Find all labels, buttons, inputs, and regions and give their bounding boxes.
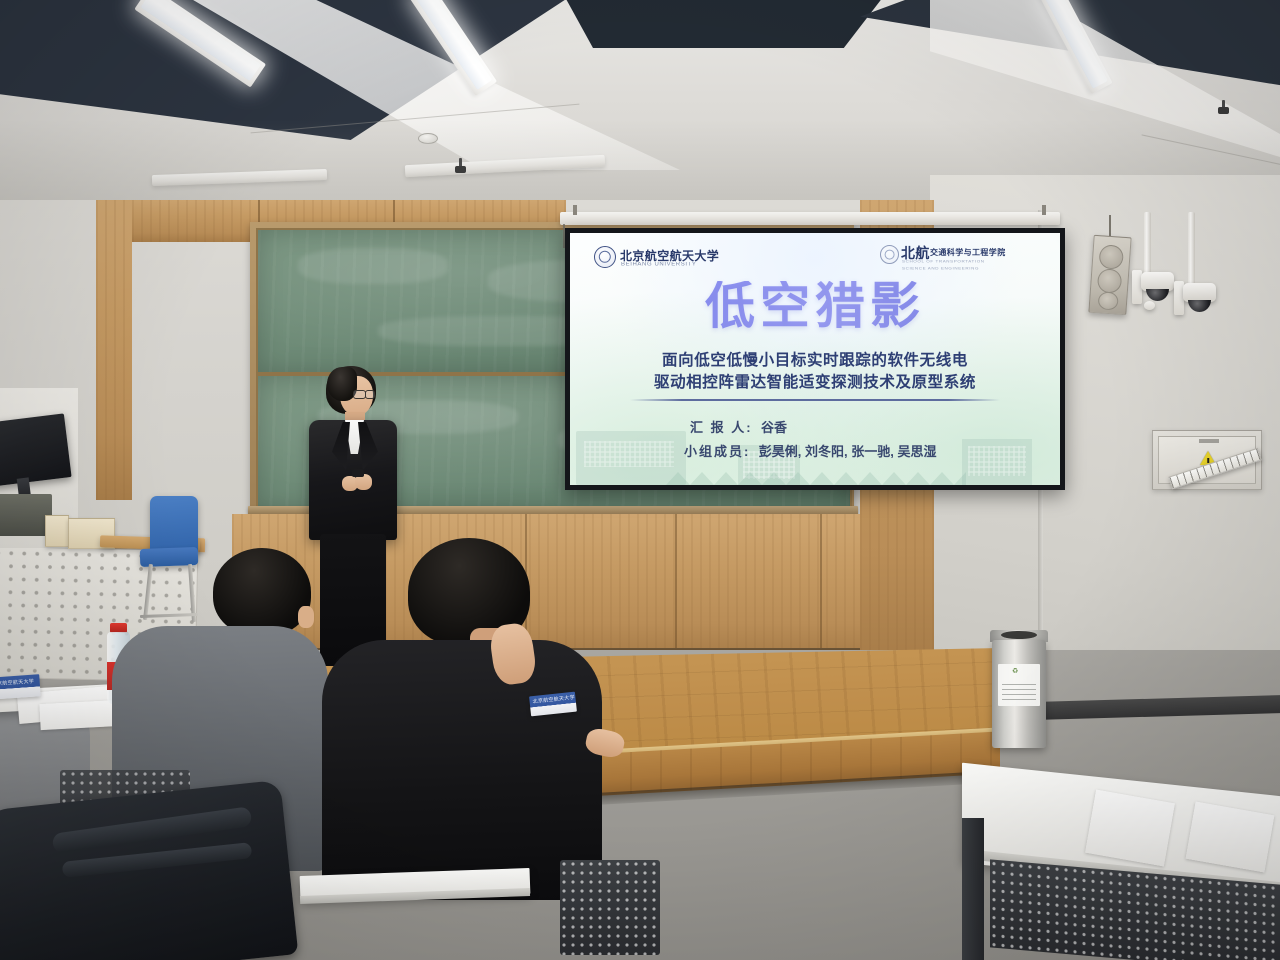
slide-presenter-row: 汇 报 人: 谷香 bbox=[690, 417, 787, 437]
camera-pole-left bbox=[1144, 212, 1151, 274]
recycling-bin-label: ♻ bbox=[998, 664, 1040, 706]
audience-member-gray-sweater-ear bbox=[298, 606, 314, 628]
desktop-monitor bbox=[0, 413, 72, 486]
stainless-recycling-bin: ♻ bbox=[992, 640, 1046, 748]
chair-back-mesh-middle bbox=[560, 860, 660, 955]
projection-screen: 北京航空航天大学 BEIHANG UNIVERSITY 北航 交通科学与工程学院… bbox=[565, 228, 1065, 490]
projector-screen-housing bbox=[560, 212, 1060, 225]
campus-building-graphic-left bbox=[576, 431, 686, 485]
slide-logo-right-cn: 交通科学与工程学院 bbox=[930, 247, 1006, 258]
screen-mount-bracket-right bbox=[1042, 205, 1046, 215]
panel-small-label bbox=[1199, 439, 1219, 443]
wood-panel-seam-5 bbox=[675, 514, 677, 654]
slide-members-label: 小组成员: bbox=[684, 444, 750, 459]
slide-subtitle-line1: 面向低空低慢小目标实时跟踪的软件无线电 bbox=[570, 348, 1060, 370]
printed-documents-left-2 bbox=[39, 700, 120, 730]
classroom-scene: 北京航空航天大学 BEIHANG UNIVERSITY 北航 交通科学与工程学院… bbox=[0, 0, 1280, 960]
slide-presenter-name: 谷香 bbox=[761, 420, 787, 435]
campus-building-graphic-right bbox=[962, 439, 1032, 485]
screen-mount-bracket-left bbox=[573, 205, 577, 215]
recycling-bin-opening bbox=[1001, 631, 1037, 639]
wall-speaker bbox=[1088, 235, 1131, 315]
slide-members-names: 彭昊俐, 刘冬阳, 张一驰, 吴思湿 bbox=[759, 444, 937, 459]
wood-panel-left-column bbox=[96, 200, 132, 500]
smoke-detector bbox=[418, 133, 438, 144]
speaker-chain bbox=[1109, 215, 1111, 237]
slide-subtitle-line2: 驱动相控阵雷达智能适变探测技术及原型系统 bbox=[570, 370, 1060, 392]
presenter-eyeglasses-right-lens bbox=[365, 390, 375, 399]
audience-member-gray-sweater-hair bbox=[213, 548, 311, 636]
camera-pole-right bbox=[1188, 212, 1195, 284]
presentation-clicker bbox=[352, 469, 364, 477]
slide-title: 低空猎影 bbox=[570, 281, 1060, 331]
black-backpack bbox=[0, 780, 298, 960]
name-placard-left: 北京航空航天大学 bbox=[0, 674, 41, 700]
slide-divider bbox=[630, 399, 1000, 401]
beihang-university-seal-icon bbox=[594, 246, 616, 268]
recycling-symbol-icon: ♻ bbox=[1012, 668, 1018, 675]
ceiling-dark-panel-mid bbox=[560, 0, 890, 48]
paper-box-small bbox=[45, 515, 69, 547]
desk-support-post-right bbox=[962, 818, 984, 960]
slide-logo-right-en-line2: SCIENCE AND ENGINEERING bbox=[902, 266, 979, 270]
presentation-slide: 北京航空航天大学 BEIHANG UNIVERSITY 北航 交通科学与工程学院… bbox=[570, 233, 1060, 485]
slide-logo-left-en: BEIHANG UNIVERSITY bbox=[621, 262, 696, 267]
name-placard-right-text: 北京航空航天大学 bbox=[532, 694, 575, 705]
slide-members-row: 小组成员: 彭昊俐, 刘冬阳, 张一驰, 吴思湿 bbox=[684, 441, 936, 461]
campus-roofline-graphic bbox=[666, 472, 966, 485]
school-of-transportation-seal-icon bbox=[880, 245, 899, 264]
recycling-bin-label-lines bbox=[1002, 684, 1036, 700]
name-placard-left-text: 北京航空航天大学 bbox=[0, 678, 34, 688]
slide-logo-right-en-line1: SCHOOL OF TRANSPORTATION bbox=[902, 259, 985, 263]
slide-presenter-label: 汇 报 人: bbox=[690, 420, 753, 435]
wood-panel-seam-6 bbox=[820, 514, 822, 654]
printed-documents-right-1 bbox=[1085, 790, 1175, 867]
